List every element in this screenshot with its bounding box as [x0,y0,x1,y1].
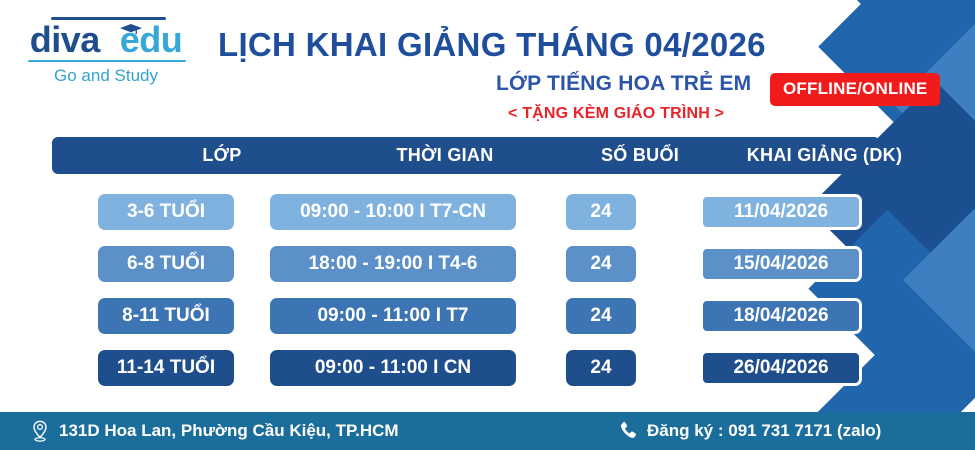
footer-bar: 131D Hoa Lan, Phường Cầu Kiệu, TP.HCM Đă… [0,412,975,450]
diamond-shape-1 [757,0,975,133]
footer-address-text: 131D Hoa Lan, Phường Cầu Kiệu, TP.HCM [59,421,399,441]
logo-bar-top [51,17,166,20]
column-header-date: KHAI GIẢNG (DK) [707,145,942,166]
cell-start-date: 26/04/2026 [700,350,862,386]
cell-start-date: 11/04/2026 [700,194,862,230]
footer-address: 131D Hoa Lan, Phường Cầu Kiệu, TP.HCM [30,420,399,442]
page-subtitle: LỚP TIẾNG HOA TRẺ EM [496,72,751,96]
cell-class-age: 8-11 TUỔI [98,298,234,334]
cell-schedule: 09:00 - 10:00 I T7-CN [270,194,516,230]
cell-sessions: 24 [566,350,636,386]
table-row: 3-6 TUỔI 09:00 - 10:00 I T7-CN 24 11/04/… [0,194,975,237]
table-row: 8-11 TUỔI 09:00 - 11:00 I T7 24 18/04/20… [0,298,975,341]
graduation-cap-icon [120,24,142,35]
table-row: 6-8 TUỔI 18:00 - 19:00 I T4-6 24 15/04/2… [0,246,975,289]
page-title: LỊCH KHAI GIẢNG THÁNG 04/2026 [218,26,766,64]
cell-start-date: 15/04/2026 [700,246,862,282]
table-row: 11-14 TUỔI 09:00 - 11:00 I CN 24 26/04/2… [0,350,975,393]
cell-sessions: 24 [566,298,636,334]
brand-name-primary: diva [30,22,100,58]
cell-class-age: 11-14 TUỔI [98,350,234,386]
cell-schedule: 18:00 - 19:00 I T4-6 [270,246,516,282]
column-header-buoi: SỐ BUỔI [580,145,700,166]
location-pin-icon [30,420,50,442]
footer-phone: Đăng ký : 091 731 7171 (zalo) [618,420,881,442]
column-header-lop: LỚP [162,145,282,166]
cell-class-age: 6-8 TUỔI [98,246,234,282]
cell-sessions: 24 [566,246,636,282]
logo-bar-bottom [28,60,186,62]
column-header-time: THỜI GIAN [330,145,560,166]
footer-phone-text: Đăng ký : 091 731 7171 (zalo) [647,421,881,441]
cell-start-date: 18/04/2026 [700,298,862,334]
brand-wordmark: diva edu [16,22,196,58]
brand-tagline: Go and Study [16,66,196,86]
promo-poster: diva edu Go and Study LỊCH KHAI GIẢNG TH… [0,0,975,450]
cell-class-age: 3-6 TUỔI [98,194,234,230]
promo-tagline: < TẶNG KÈM GIÁO TRÌNH > [508,105,724,123]
phone-icon [618,420,638,442]
cell-schedule: 09:00 - 11:00 I CN [270,350,516,386]
table-header-row: LỚP THỜI GIAN SỐ BUỔI KHAI GIẢNG (DK) [52,137,880,174]
cell-sessions: 24 [566,194,636,230]
status-badge: OFFLINE/ONLINE [770,73,940,106]
brand-logo: diva edu Go and Study [16,22,196,86]
cell-schedule: 09:00 - 11:00 I T7 [270,298,516,334]
